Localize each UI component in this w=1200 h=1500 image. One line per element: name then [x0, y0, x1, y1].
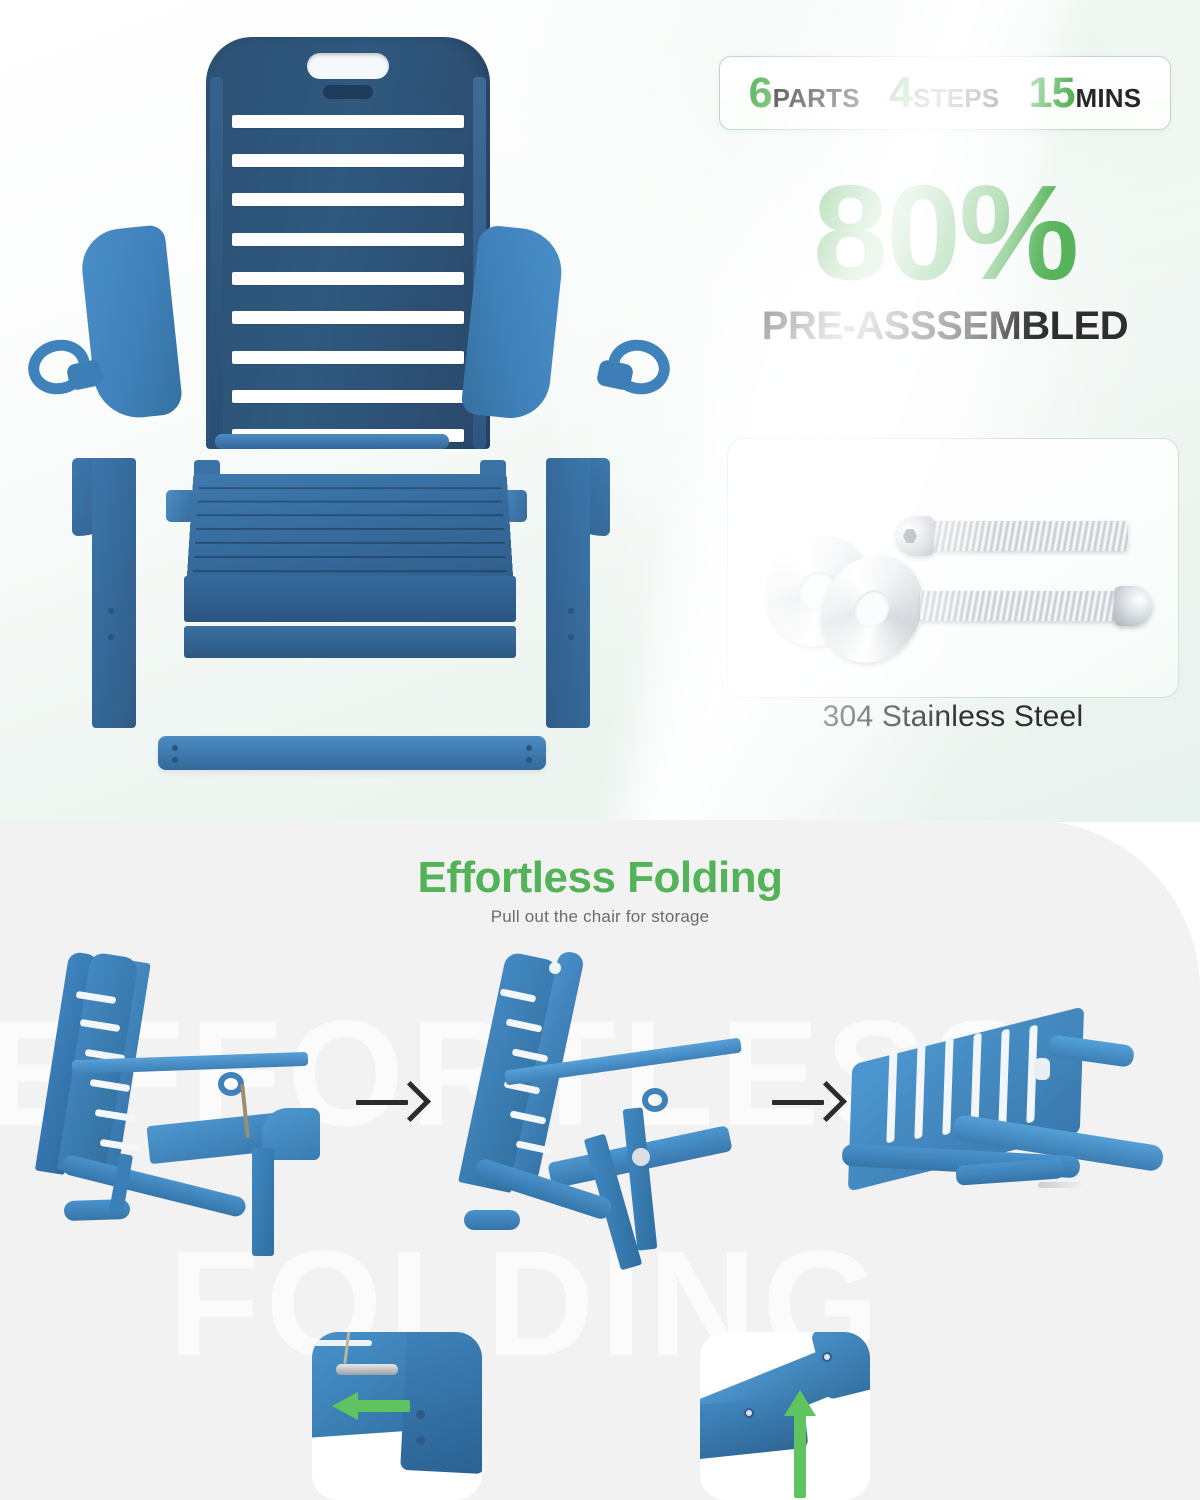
backrest-slot: [232, 390, 464, 403]
screw-hole: [108, 608, 114, 614]
backrest-rail-left: [210, 77, 223, 449]
chair-cup-holder: [642, 1088, 668, 1112]
chair-armrest-left-part: [78, 224, 183, 422]
screw-hole: [172, 745, 178, 751]
seat-slat-line: [196, 528, 504, 530]
backrest-handle-cutout: [307, 53, 389, 79]
bolt-icon: [920, 591, 1152, 621]
detail-inset-leg-lift: [700, 1332, 870, 1500]
backrest-slot: [232, 115, 464, 128]
green-arrow-up-icon: [784, 1390, 816, 1498]
seat-top-surface: [186, 474, 513, 585]
bolt-icon: [896, 521, 1128, 551]
bolt-head: [1114, 586, 1152, 626]
backrest-slot: [232, 154, 464, 167]
folding-step-1-upright-chair: [30, 948, 340, 1268]
screw-hole: [568, 634, 574, 640]
chair-handle-hole: [1034, 1058, 1050, 1080]
chair-back-hole: [549, 962, 561, 974]
chair-slot-closeup: [312, 1340, 372, 1346]
spec-item-parts: 6 PARTS: [749, 72, 860, 115]
folding-title: Effortless Folding: [0, 853, 1200, 903]
leg-body: [546, 458, 590, 728]
arrow-head: [390, 1081, 431, 1122]
backrest-slot: [232, 193, 464, 206]
screw-head: [416, 1410, 425, 1419]
backrest-support-bar-part: [215, 434, 449, 449]
chair-front-leg: [252, 1148, 274, 1256]
spec-item-mins: 15 MINS: [1029, 72, 1142, 115]
folding-section: EFFORTLESS FOLDING Effortless Folding Pu…: [0, 820, 1200, 1500]
chair-leg-right-part: [528, 458, 590, 728]
screw-hole: [526, 745, 532, 751]
folding-step-2-partially-folded-chair: [452, 948, 772, 1278]
detail-inset-pin-release: [312, 1332, 482, 1500]
pin-icon: [336, 1364, 398, 1375]
chair-part-closeup: [400, 1332, 482, 1474]
screw-head: [744, 1408, 754, 1418]
screw-hole: [108, 634, 114, 640]
spec-summary-badge: 6 PARTS 4 STEPS 15 MINS: [719, 56, 1171, 130]
backrest-slot: [232, 311, 464, 324]
seat-slat-line: [197, 514, 504, 516]
spec-steps-unit: STEPS: [913, 85, 999, 111]
hardware-card: [727, 438, 1179, 698]
green-arrow-left-icon: [332, 1390, 412, 1420]
spec-mins-unit: MINS: [1076, 85, 1142, 111]
green-arrow-shaft: [354, 1400, 410, 1412]
backrest-slot: [232, 351, 464, 364]
exploded-view-section: 6 PARTS 4 STEPS 15 MINS 80% PRE-ASSSEMBL…: [0, 0, 1200, 822]
spec-parts-number: 6: [749, 72, 772, 115]
leg-body: [92, 458, 136, 728]
chair-leg-left-part: [92, 458, 154, 728]
arrow-right-icon-2: [772, 1082, 842, 1122]
armrest-body: [78, 224, 183, 422]
screw-head: [822, 1352, 832, 1362]
folding-subtitle: Pull out the chair for storage: [0, 907, 1200, 927]
seat-slat-line: [194, 556, 506, 558]
chair-hinge-knob: [632, 1148, 650, 1166]
backrest-slot: [232, 272, 464, 285]
chair-rear-foot: [464, 1210, 520, 1230]
chair-stretcher-part: [158, 736, 546, 770]
seat-front-rail: [184, 576, 516, 622]
seat-slat-line: [198, 487, 501, 489]
seat-slat-line: [198, 501, 503, 503]
chair-backrest-part: [206, 37, 490, 449]
bolt-shank: [926, 521, 1128, 551]
green-arrow-shaft: [794, 1412, 806, 1498]
screw-hole: [172, 757, 178, 763]
green-arrow-head: [332, 1392, 358, 1420]
arrow-right-icon-1: [356, 1082, 426, 1122]
spec-parts-unit: PARTS: [773, 85, 860, 111]
armrest-body: [460, 224, 565, 422]
seat-lower-rail: [184, 626, 516, 658]
bolt-shank: [920, 591, 1122, 621]
pre-assembled-percent: 80%: [719, 168, 1171, 298]
screw-hole: [526, 757, 532, 763]
backrest-slot: [232, 233, 464, 246]
chair-bolt-detail: [1038, 1182, 1084, 1188]
product-infographic: 6 PARTS 4 STEPS 15 MINS 80% PRE-ASSSEMBL…: [0, 0, 1200, 1500]
spec-mins-number: 15: [1029, 72, 1075, 115]
green-arrow-head: [784, 1390, 816, 1416]
pre-assembled-block: 80% PRE-ASSSEMBLED: [719, 168, 1171, 349]
seat-slat-line: [195, 542, 505, 544]
spec-item-steps: 4 STEPS: [889, 72, 999, 115]
screw-hole: [568, 608, 574, 614]
screw-head: [416, 1436, 425, 1445]
spec-steps-number: 4: [889, 72, 912, 115]
exploded-chair-illustration: [10, 10, 710, 810]
seat-slat-line: [193, 570, 506, 572]
folding-step-3-fully-folded-chair: [836, 1010, 1176, 1240]
hardware-caption: 304 Stainless Steel: [727, 700, 1179, 734]
chair-armrest-right-part: [460, 224, 565, 422]
pre-assembled-label: PRE-ASSSEMBLED: [719, 304, 1171, 349]
chair-seat-part: [176, 472, 524, 672]
brand-logo-plate: [323, 85, 373, 99]
